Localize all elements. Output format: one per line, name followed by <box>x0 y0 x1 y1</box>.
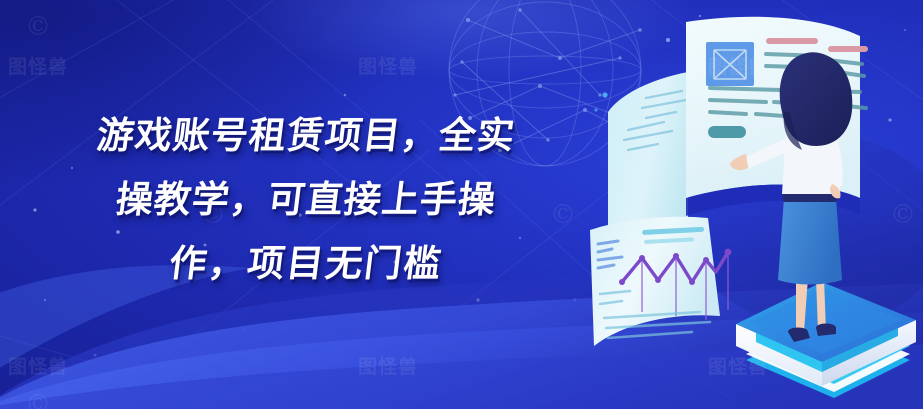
watermark-copyright-3: © <box>25 12 51 42</box>
watermark-text-5: 图怪兽 <box>708 352 768 379</box>
watermark-text-3: 图怪兽 <box>358 352 418 379</box>
watermark-text-4: 图怪兽 <box>708 52 768 79</box>
promo-banner: 游戏账号租赁项目，全实 操教学，可直接上手操 作，项目无门槛 <box>0 0 923 409</box>
headline-line-1: 游戏账号租赁项目，全实 <box>0 104 616 168</box>
shoe-right <box>816 324 836 337</box>
cta-button <box>708 126 746 138</box>
watermark-copyright-4: © <box>25 390 51 409</box>
watermark-text-2: 图怪兽 <box>8 352 68 379</box>
watermark-text-1: 图怪兽 <box>358 52 418 79</box>
headline-line-2: 操教学，可直接上手操 <box>0 168 616 232</box>
skirt <box>778 198 842 285</box>
headline-line-3: 作，项目无门槛 <box>0 232 616 296</box>
headline-block: 游戏账号租赁项目，全实 操教学，可直接上手操 作，项目无门槛 <box>0 104 612 296</box>
watermark-text-0: 图怪兽 <box>8 52 68 79</box>
watermark-copyright-2: © <box>890 200 916 230</box>
